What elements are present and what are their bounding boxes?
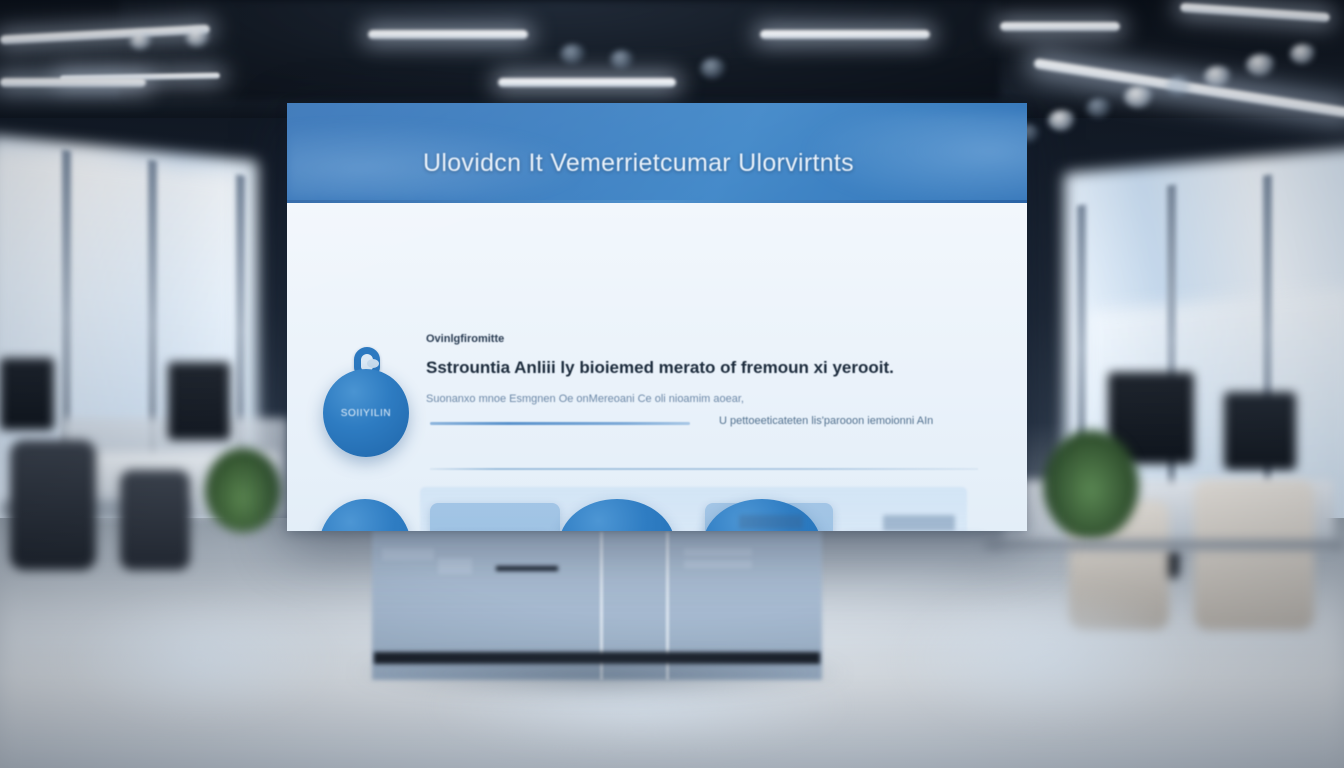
section-subtext: Suonanxo mnoe Esmgnen Oe onMereoani Ce o…	[426, 393, 744, 405]
badge-label: SOIIYILIN	[341, 408, 391, 419]
shape-pill-ghost-1[interactable]	[430, 503, 560, 531]
panel-body: SOIIYILIN Ovinlgfiromitte Sstrountia Anl…	[287, 203, 1027, 531]
shape-smudge-2	[883, 515, 955, 531]
shape-circle-1[interactable]: AIOAYALI	[319, 499, 411, 531]
badge-group[interactable]: SOIIYILIN	[323, 347, 409, 463]
section-right-text: U pettoeeticateten lis'parooon iemoionni…	[719, 415, 933, 427]
page-title: Ulovidcn It Vemerrietcumar Ulorvirtnts	[423, 149, 854, 178]
panel-header: Ulovidcn It Vemerrietcumar Ulorvirtnts	[287, 103, 1027, 203]
section-headline: Sstrountia Anliii ly bioiemed merato of …	[426, 358, 894, 378]
divider-secondary	[430, 468, 978, 470]
badge-circle-icon[interactable]: SOIIYILIN	[323, 369, 409, 457]
section-kicker: Ovinlgfiromitte	[426, 333, 504, 345]
tag-loop-hole	[367, 359, 379, 368]
information-panel[interactable]: Ulovidcn It Vemerrietcumar Ulorvirtnts S…	[287, 103, 1027, 531]
shape-smudge-1	[739, 515, 803, 529]
divider-primary	[430, 422, 690, 425]
